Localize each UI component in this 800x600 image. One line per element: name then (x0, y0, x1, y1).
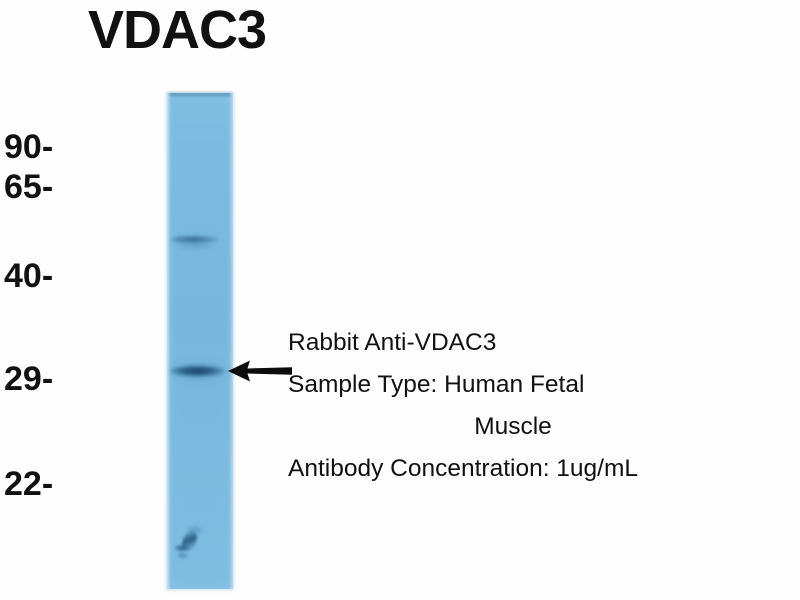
lane-background (167, 93, 233, 589)
annotation-antibody-concentration: Antibody Concentration: 1ug/mL (288, 448, 738, 490)
mw-marker-90: 90- (4, 130, 165, 164)
lane-right-edge (229, 93, 233, 589)
band-29-kda (170, 365, 226, 377)
western-blot-figure: VDAC3 90- 65- 40- 29- 22- (0, 0, 800, 600)
annotation-sample-type: Sample Type: Human Fetal (288, 364, 738, 406)
lane-top-edge (169, 93, 231, 96)
band-45-kda-shadow (175, 243, 215, 249)
mw-marker-40: 40- (4, 259, 165, 293)
annotation-text-block: Rabbit Anti-VDAC3 Sample Type: Human Fet… (288, 322, 738, 490)
band-pointer-arrow (228, 358, 292, 384)
mw-marker-29: 29- (4, 362, 165, 396)
molecular-weight-marker-column: 90- 65- 40- 29- 22- (0, 0, 165, 600)
mw-marker-22: 22- (4, 467, 165, 501)
annotation-antibody: Rabbit Anti-VDAC3 (288, 322, 738, 364)
annotation-sample-type-continued: Muscle (288, 406, 738, 448)
mw-marker-65: 65- (4, 170, 165, 204)
gel-lane (167, 93, 233, 589)
lane-bottom-artifact (173, 525, 207, 561)
lane-left-edge (167, 93, 171, 589)
